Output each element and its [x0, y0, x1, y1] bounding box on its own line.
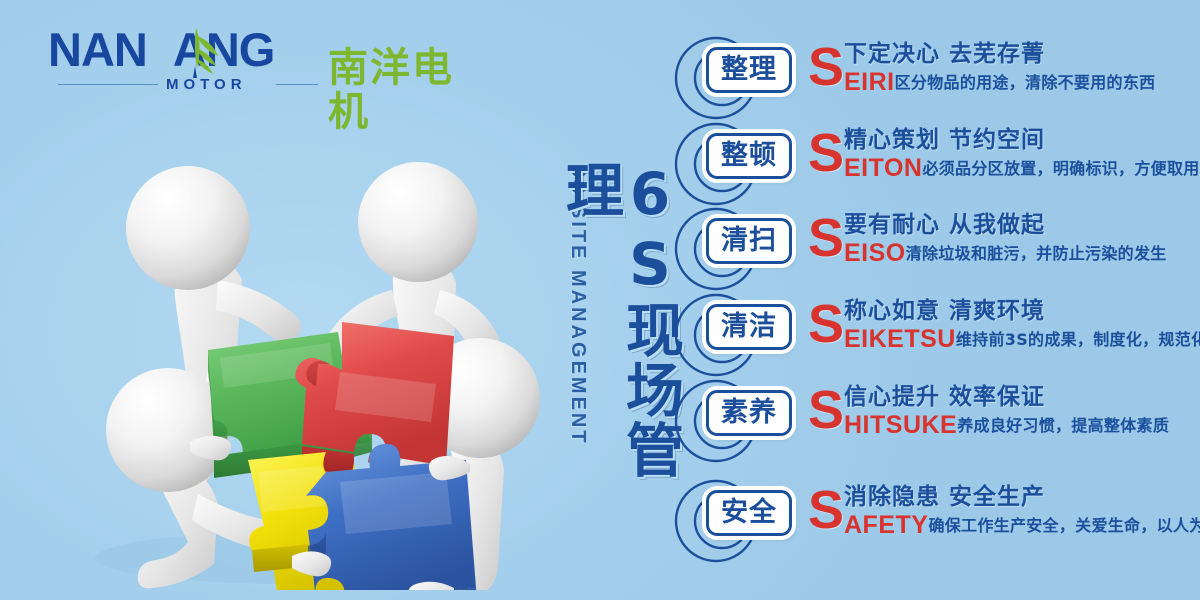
- six-s-row-6[interactable]: 安全 S 消除隐患 安全生产 AFETY确保工作生产安全，关爱生命，以人为本: [668, 477, 1188, 563]
- six-s-initial: S: [808, 383, 844, 437]
- wheat-leaf-icon: [166, 22, 224, 78]
- banner-root: NANYANG MOTOR 南洋电机: [0, 0, 1200, 600]
- vertical-title: 6S SITE MANAGEMENT 6S现场管理: [560, 160, 680, 490]
- logo-rule-left: [58, 84, 158, 85]
- six-s-subline: HITSUKE养成良好习惯，提高整体素质: [844, 412, 1169, 442]
- six-s-description: 清除垃圾和脏污，并防止污染的发生: [906, 244, 1167, 263]
- six-s-description: 区分物品的用途，清除不要用的东西: [895, 73, 1156, 92]
- six-s-badge-label: 素养: [721, 398, 777, 428]
- logo-rule-right: [276, 84, 318, 85]
- six-s-description: 确保工作生产安全，关爱生命，以人为本: [928, 516, 1200, 535]
- six-s-subline: EITON必须品分区放置，明确标识，方便取用: [844, 155, 1200, 185]
- six-s-slogan: 称心如意 清爽环境: [844, 298, 1045, 324]
- six-s-initial: S: [808, 297, 844, 351]
- six-s-description: 必须品分区放置，明确标识，方便取用: [922, 159, 1199, 178]
- six-s-badge-label: 安全: [721, 498, 777, 528]
- six-s-badge[interactable]: 整顿: [706, 133, 792, 179]
- six-s-badge-label: 清洁: [721, 312, 777, 342]
- six-s-subline: EIRI区分物品的用途，清除不要用的东西: [844, 69, 1155, 99]
- six-s-badge[interactable]: 清洁: [706, 304, 792, 350]
- six-s-initial: S: [808, 483, 844, 537]
- six-s-romaji: AFETY: [844, 511, 928, 539]
- six-s-description: 养成良好习惯，提高整体素质: [957, 416, 1169, 435]
- vertical-title-chinese: 6S现场管理: [560, 160, 680, 490]
- six-s-subline: EIKETSU维持前3S的成果，制度化，规范化: [844, 326, 1200, 356]
- 3d-figures-puzzle-illustration: [40, 90, 540, 590]
- six-s-slogan: 要有耐心 从我做起: [844, 212, 1045, 238]
- logo-wordmark: NANYANG: [48, 24, 274, 76]
- six-s-row-3[interactable]: 清扫 S 要有耐心 从我做起 EISO清除垃圾和脏污，并防止污染的发生: [668, 205, 1188, 291]
- six-s-slogan: 精心策划 节约空间: [844, 127, 1045, 153]
- six-s-subline: AFETY确保工作生产安全，关爱生命，以人为本: [844, 512, 1200, 542]
- six-s-romaji: HITSUKE: [844, 411, 957, 439]
- six-s-initial: S: [808, 126, 844, 180]
- six-s-badge[interactable]: 清扫: [706, 218, 792, 264]
- six-s-initial: S: [808, 211, 844, 265]
- logo-wordmark-prefix: NAN: [48, 23, 147, 76]
- six-s-badge-label: 整顿: [721, 141, 777, 171]
- six-s-description: 维持前3S的成果，制度化，规范化: [956, 330, 1200, 349]
- six-s-badge-label: 清扫: [721, 226, 777, 256]
- six-s-badge-label: 整理: [721, 55, 777, 85]
- six-s-badge[interactable]: 整理: [706, 47, 792, 93]
- six-s-slogan: 信心提升 效率保证: [844, 384, 1045, 410]
- six-s-romaji: EITON: [844, 154, 922, 182]
- six-s-initial: S: [808, 40, 844, 94]
- six-s-subline: EISO清除垃圾和脏污，并防止污染的发生: [844, 240, 1167, 270]
- six-s-slogan: 消除隐患 安全生产: [844, 484, 1045, 510]
- company-logo: NANYANG MOTOR 南洋电机: [48, 24, 468, 88]
- six-s-row-4[interactable]: 清洁 S 称心如意 清爽环境 EIKETSU维持前3S的成果，制度化，规范化: [668, 291, 1188, 377]
- six-s-romaji: EIRI: [844, 68, 895, 96]
- six-s-slogan: 下定决心 去芜存菁: [844, 41, 1045, 67]
- six-s-badge[interactable]: 素养: [706, 390, 792, 436]
- six-s-romaji: EIKETSU: [844, 325, 956, 353]
- six-s-badge[interactable]: 安全: [706, 490, 792, 536]
- six-s-romaji: EISO: [844, 239, 906, 267]
- six-s-row-1[interactable]: 整理 S 下定决心 去芜存菁 EIRI区分物品的用途，清除不要用的东西: [668, 34, 1188, 120]
- six-s-row-5[interactable]: 素养 S 信心提升 效率保证 HITSUKE养成良好习惯，提高整体素质: [668, 377, 1188, 463]
- artwork-svg: [40, 90, 540, 590]
- six-s-row-2[interactable]: 整顿 S 精心策划 节约空间 EITON必须品分区放置，明确标识，方便取用: [668, 120, 1188, 206]
- six-s-list: 整理 S 下定决心 去芜存菁 EIRI区分物品的用途，清除不要用的东西 整顿 S…: [668, 34, 1188, 582]
